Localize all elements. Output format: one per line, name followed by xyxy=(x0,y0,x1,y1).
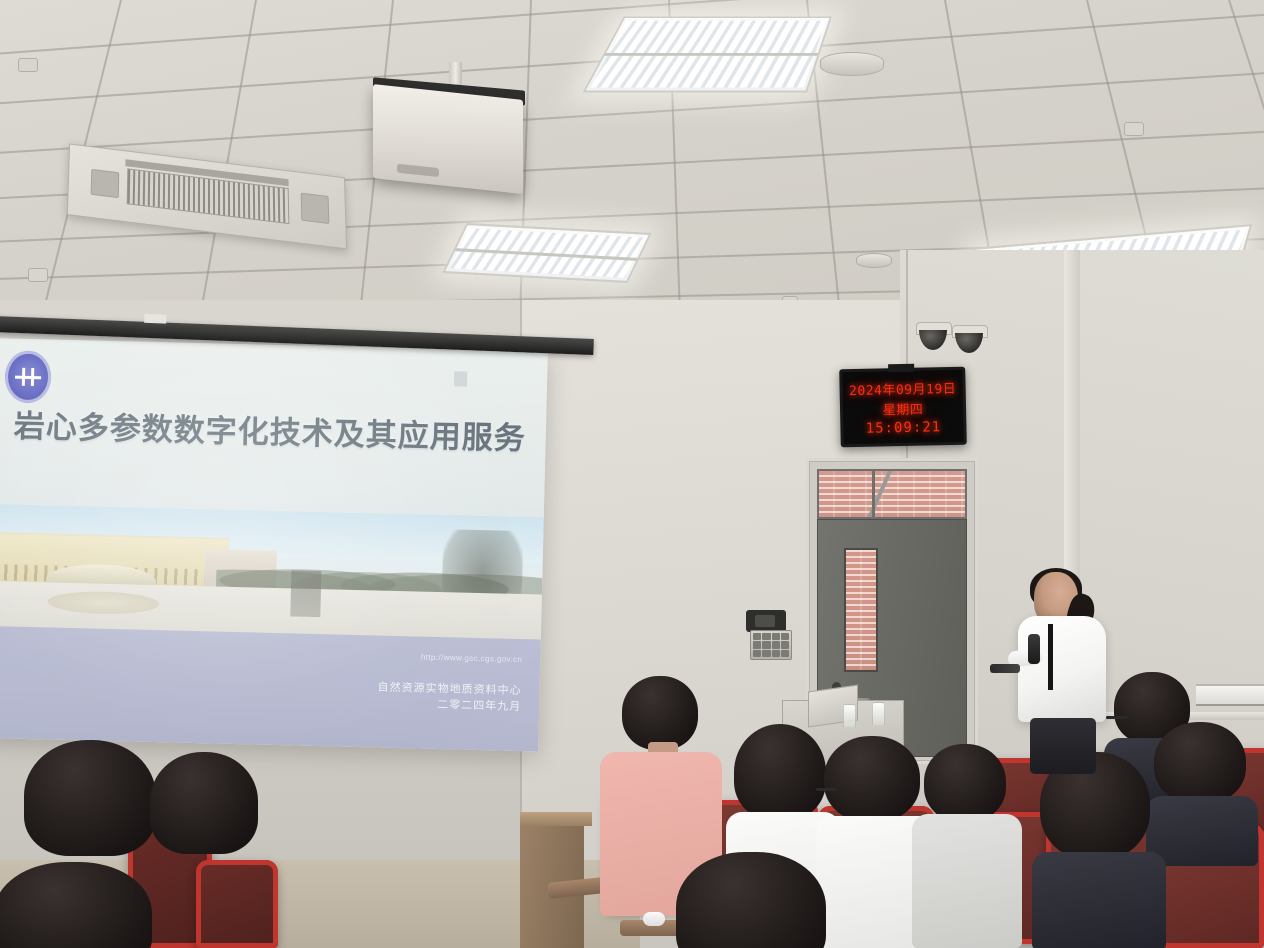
camera-bracket xyxy=(746,610,786,632)
audience-member-foreground-left-3 xyxy=(150,752,262,862)
audience-member-foreground-right xyxy=(1032,752,1164,948)
ceiling-light-2 xyxy=(442,223,652,283)
side-window xyxy=(1196,684,1264,706)
projection-screen: 岩心多参数数字化技术及其应用服务 http://www.gsc.cgs.gov.… xyxy=(0,338,548,751)
head xyxy=(734,724,826,820)
audience-member-grey xyxy=(912,744,1020,948)
door-transom-window xyxy=(817,469,967,519)
presenter-torso xyxy=(1018,616,1106,722)
presenter xyxy=(1012,572,1116,772)
front-desk-top xyxy=(520,812,592,826)
torso xyxy=(1032,852,1166,948)
transom-mullion xyxy=(872,471,875,517)
dome-security-camera-2 xyxy=(952,325,986,355)
audience-member-foreground-left-1 xyxy=(0,862,154,948)
camera-dome xyxy=(919,330,947,350)
glasses-icon xyxy=(816,788,836,791)
slide-url-text: http://www.gsc.cgs.gov.cn xyxy=(421,653,523,664)
exterior-brick-wall xyxy=(819,471,965,517)
slide-title: 岩心多参数数字化技术及其应用服务 xyxy=(13,401,526,458)
clock-time: 15:09:21 xyxy=(866,419,942,437)
ceiling-projector xyxy=(373,84,523,194)
projector-lens xyxy=(397,164,439,177)
slide-footer-band: http://www.gsc.cgs.gov.cn 自然资源实物地质资料中心 二… xyxy=(0,626,541,752)
ac-vent-left xyxy=(91,169,120,198)
ceiling-sensor-2 xyxy=(28,268,48,282)
lecture-hall-scene: 岩心多参数数字化技术及其应用服务 http://www.gsc.cgs.gov.… xyxy=(0,0,1264,948)
audience-member-foreground-left-2 xyxy=(24,740,158,860)
institute-emblem-icon xyxy=(4,350,51,403)
clock-mount xyxy=(888,364,914,373)
wall-control-panel[interactable] xyxy=(744,610,788,656)
slide-org-block: 自然资源实物地质资料中心 二零二四年九月 xyxy=(377,680,522,716)
microphone[interactable] xyxy=(1028,634,1040,664)
screen-roller-tag xyxy=(144,314,166,324)
presentation-clicker[interactable] xyxy=(990,664,1020,673)
head xyxy=(824,736,920,822)
slide-campus-photo xyxy=(0,504,544,643)
dome-security-camera-1 xyxy=(916,322,950,352)
photo-monument xyxy=(290,570,321,617)
ceiling-light-1 xyxy=(582,16,831,92)
torso xyxy=(912,814,1022,948)
head xyxy=(24,740,156,856)
slide-decor-box xyxy=(454,371,467,386)
audience-member-bottom-center xyxy=(676,852,826,948)
water-bottle-1 xyxy=(843,704,856,728)
door-vision-panel xyxy=(844,548,878,672)
slide-header-area: 岩心多参数数字化技术及其应用服务 xyxy=(0,338,548,520)
earbud-case xyxy=(643,912,665,926)
led-clock-display: 2024年09月19日 星期四 15:09:21 xyxy=(839,367,967,448)
head xyxy=(0,862,152,948)
clock-weekday: 星期四 xyxy=(883,398,924,418)
ac-vent-right xyxy=(301,193,330,224)
head xyxy=(676,852,826,948)
water-bottle-2 xyxy=(872,702,885,726)
camera-dome xyxy=(955,333,983,353)
presenter-lanyard xyxy=(1048,624,1053,690)
ceiling-sensor-3 xyxy=(1124,122,1144,136)
head xyxy=(1154,722,1246,804)
exterior-brick-view xyxy=(846,550,876,670)
ceiling-speaker-1 xyxy=(820,52,884,76)
light-divider xyxy=(604,53,818,56)
head xyxy=(622,676,698,750)
ceiling-sensor-1 xyxy=(18,58,38,72)
head xyxy=(150,752,258,854)
head xyxy=(924,744,1006,822)
presenter-legs xyxy=(1030,718,1096,774)
emblem-mark xyxy=(15,368,41,387)
clock-date: 2024年09月19日 xyxy=(849,377,956,398)
control-keypad[interactable] xyxy=(750,630,792,660)
slide-date-line: 二零二四年九月 xyxy=(377,696,521,716)
ceiling-speaker-2 xyxy=(856,253,892,268)
seat-front-left-2[interactable] xyxy=(196,860,278,948)
